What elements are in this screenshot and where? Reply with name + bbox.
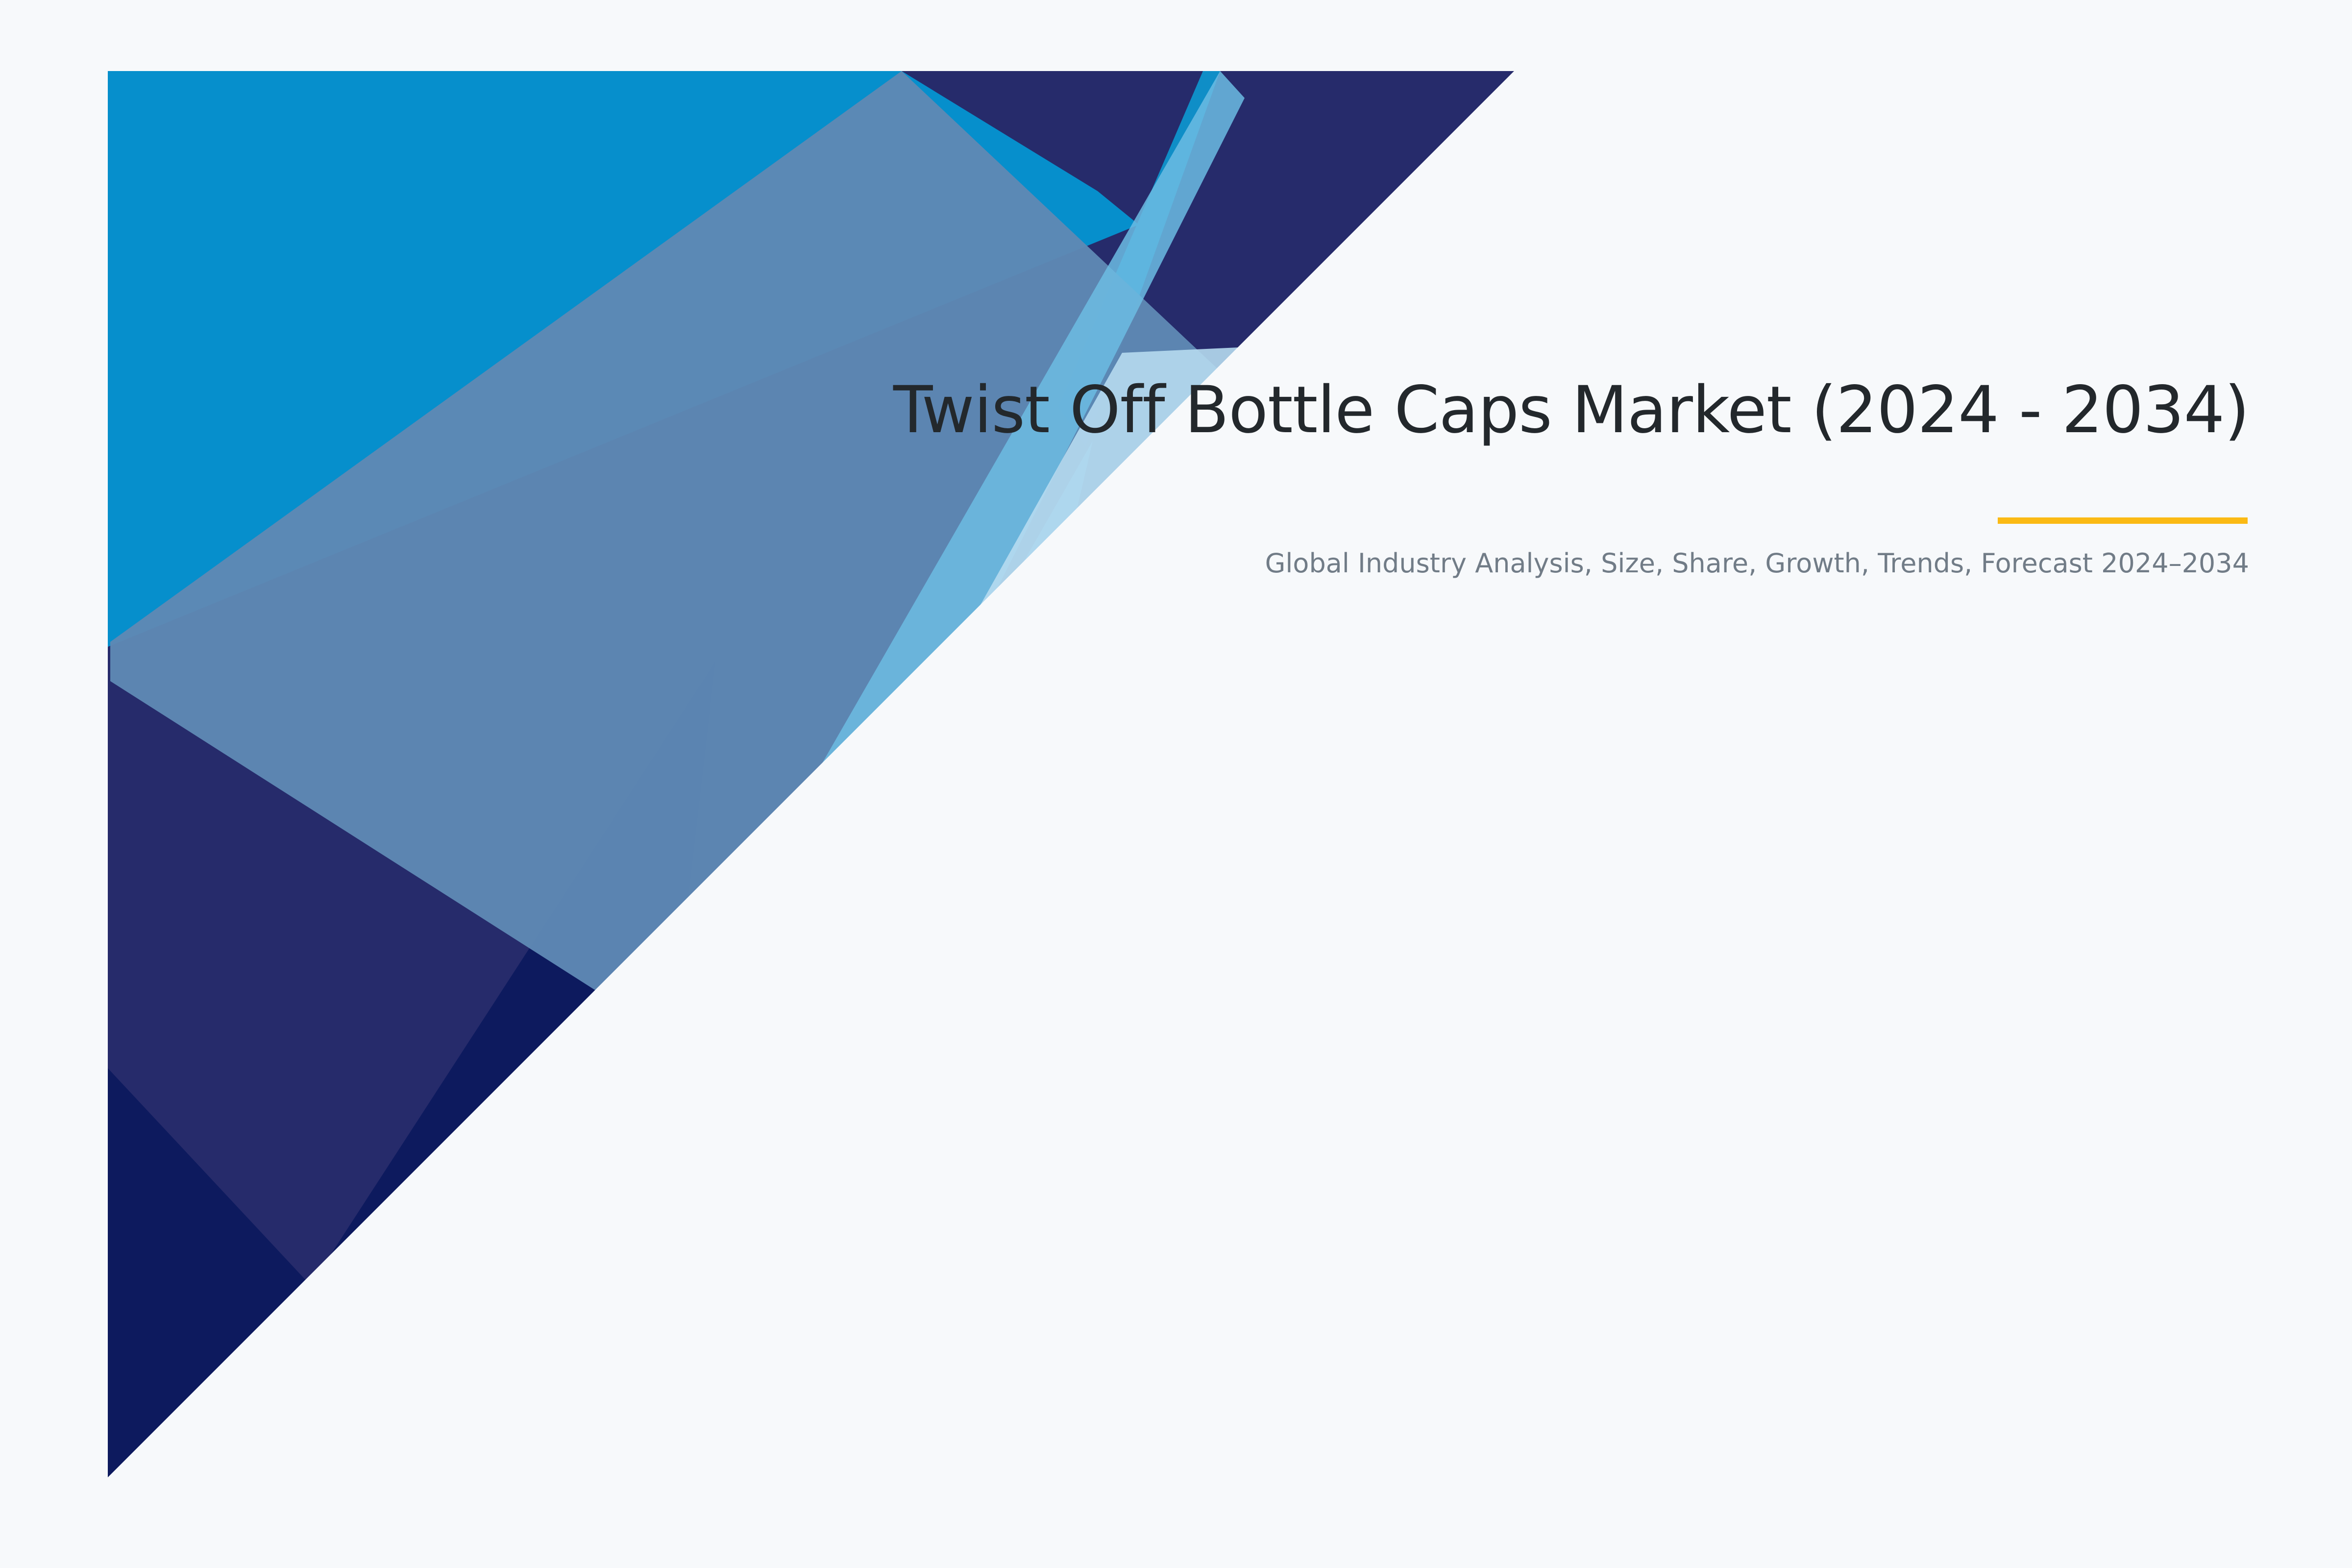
- sky-blue-band-lower-shape: [500, 441, 1093, 1477]
- page-title: Twist Off Bottle Caps Market (2024 - 203…: [808, 372, 2249, 448]
- slate-blue-sheet-shape: [110, 71, 1284, 1142]
- indigo-diagonal-band-shape: [108, 71, 1514, 1477]
- deep-navy-lower-block-shape: [108, 1068, 490, 1477]
- title-block: Twist Off Bottle Caps Market (2024 - 203…: [808, 372, 2249, 448]
- artwork-top-mask: [0, 0, 2352, 71]
- deep-navy-spike-shape: [186, 661, 715, 1477]
- page-subtitle: Global Industry Analysis, Size, Share, G…: [808, 448, 2249, 581]
- artwork-bottom-mask: [108, 1477, 2352, 1568]
- sky-blue-band-shape: [412, 71, 1245, 1477]
- indigo-wedge-upper-shape: [902, 71, 1514, 343]
- artwork-outside-mask: [0, 0, 2352, 1568]
- title-accent-bar: [1998, 517, 2248, 524]
- artwork-left-mask: [0, 0, 108, 1568]
- artwork-shape-group: [0, 0, 2352, 1568]
- title-slide: Twist Off Bottle Caps Market (2024 - 203…: [0, 0, 2352, 1568]
- text-column: Twist Off Bottle Caps Market (2024 - 203…: [808, 372, 2249, 581]
- artwork-right-mask: [833, 71, 2352, 1477]
- indigo-topright-shape: [1196, 71, 1514, 392]
- decorative-artwork: [0, 0, 2352, 1568]
- cyan-field-shape: [108, 71, 1514, 1477]
